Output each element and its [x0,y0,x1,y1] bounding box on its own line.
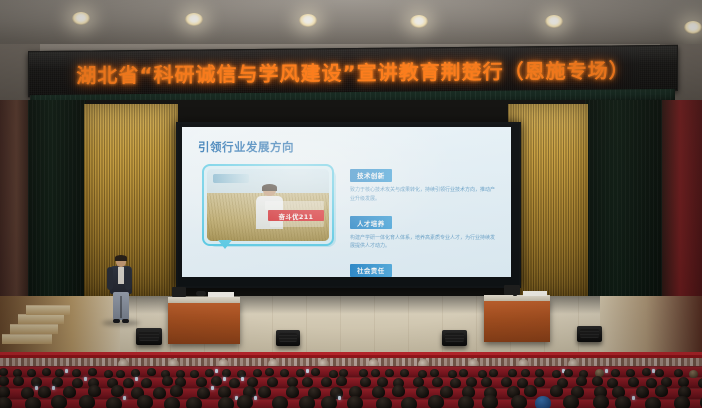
audience-phone-screen [123,396,126,400]
audience-member [237,395,253,408]
podium-right-papers [523,291,547,296]
slide-block: 社会责任 主动担当社会责任，服务乡村振兴与区域经济，助力科技成果惠及大众。 [350,260,498,277]
audience-member [25,397,41,408]
audience-member [655,369,664,377]
slide-block-badge: 人才培养 [350,216,392,229]
audience-member [218,397,234,408]
audience-member [564,369,573,377]
audience-member [272,396,288,408]
audience-member [636,386,649,398]
audience-member [13,376,24,386]
audience-member [147,368,156,376]
podium-left [168,300,240,344]
audience-member [321,396,337,408]
audience-member [646,378,657,388]
floor-monitor-speaker [276,330,300,346]
photo-red-badge-text: 奋斗优211 [268,210,324,221]
podium-right [484,298,550,342]
audience-member [626,369,635,377]
audience-member [336,376,347,386]
audience-member [642,368,651,376]
audience-member [116,370,125,378]
ceiling-shading [0,0,702,48]
audience-member [552,370,561,378]
presenter-arm-left [107,267,113,289]
audience-member [311,368,320,376]
audience-member [104,370,113,378]
audience-member [296,369,305,377]
presenter-leg-gap [120,296,121,318]
audience-member [0,376,9,386]
audience-member [280,369,289,377]
presenter-shoe-left [113,319,120,323]
floor-monitor-speaker [136,328,162,345]
ceiling-light-icon [185,13,203,26]
floor-monitor-speaker [442,330,467,346]
audience-member [416,386,429,398]
audience-member [563,395,579,408]
projection-screen[interactable]: 引领行业发展方向 奋斗优211 技术创新 [182,127,511,277]
podium-left-papers [208,292,234,297]
audience-member [88,368,97,376]
audience-member [190,370,199,378]
slide-title: 引领行业发展方向 [198,139,294,155]
stage-step [10,324,58,334]
audience-member [196,377,207,387]
stage-step [2,334,52,344]
presenter-shoe-right [122,319,129,323]
audience-member [535,369,544,377]
audience-member [698,378,702,388]
slide-block: 人才培养 构建产学研一体化育人体系，培养高素质专业人才，为行业持续发展提供人才动… [350,213,498,252]
audience-member [371,369,380,377]
audience-phone-screen [306,369,309,373]
ceiling-light-icon [410,15,428,28]
slide-block-body: 构建产学研一体化育人体系，培养高素质专业人才，为行业持续发展提供人才动力。 [350,234,498,252]
audience-member [615,396,631,408]
podium-left-top [168,297,240,303]
audience-phone-screen [338,396,341,400]
audience-member [459,369,468,377]
audience-area [0,366,702,408]
audience-member [482,395,498,408]
masking-drape-left [28,100,86,305]
audience-member [508,369,517,377]
audience-member [392,385,405,397]
audience-member [162,376,173,386]
audience-phone-screen [65,369,68,373]
podium-right-mic [513,289,517,296]
audience-member [428,395,444,408]
audience-member [359,369,368,377]
audience-member [286,386,299,398]
podium-right-equipment [504,285,520,295]
photo-logo [213,174,249,183]
audience-member [321,377,332,387]
audience-member [689,370,698,378]
slide-text-blocks: 技术创新 致力于核心技术攻关与成果转化，持续引领行业技术方向，推动产业升级发展。… [350,165,498,277]
audience-member [258,386,271,398]
ceiling-light-icon [72,12,90,25]
audience-member [592,376,603,386]
audience-member [440,386,453,398]
audience-member [186,397,202,408]
led-banner-screen: 湖北省“科研诚信与学风建设”宣讲教育荆楚行（恩施专场） [29,46,677,96]
audience-member [153,387,166,399]
floor-side-right [600,296,702,358]
audience-member [222,369,231,377]
monitor-grill [445,333,464,342]
presenter-arm-right [125,267,131,289]
audience-member [197,387,210,399]
audience-member [42,368,51,376]
stage-step [18,314,64,324]
photo-red-badge: 奋斗优211 [268,210,324,221]
audience-member [611,369,620,377]
audience-member [360,377,371,387]
monitor-grill [139,331,159,341]
audience-member [628,377,639,387]
audience-member [79,395,95,408]
audience-member [38,386,51,398]
audience-member [535,396,551,408]
audience-member [489,369,498,377]
audience-member [376,397,392,408]
presenter-shirt [118,267,124,284]
auditorium-scene: 湖北省“科研诚信与学风建设”宣讲教育荆楚行（恩施专场） 引领行业发展方向 [0,0,702,408]
audience-member [448,370,457,378]
audience-member [534,377,545,387]
audience-phone-screen [241,377,244,381]
slide-block-badge: 社会责任 [350,264,392,277]
audience-member [51,395,67,408]
audience-phone-screen [84,377,87,381]
audience-member [524,385,537,397]
presenter-hair [115,255,127,260]
audience-member [137,395,153,408]
audience-member [302,377,313,387]
audience-member [400,369,409,377]
audience-member [123,378,134,388]
ceiling-light-icon [299,14,317,27]
audience-member [576,376,587,386]
audience-member [450,378,461,388]
apron-trim [0,352,702,355]
photo-caption-line [265,201,324,210]
photo-person-hair [262,184,277,191]
audience-phone-screen [632,396,635,400]
audience-phone-screen [215,369,218,373]
stage-step [26,305,70,315]
podium-left-mic [196,291,206,296]
audience-phone-screen [135,377,138,381]
audience-phone-screen [223,377,226,381]
presenter [108,256,134,322]
audience-member [550,385,563,397]
audience-member [593,395,609,408]
audience-member [645,397,661,408]
audience-member [27,369,36,377]
photo-subcaption-line [270,221,324,227]
audience-member [131,369,140,377]
audience-member [141,378,152,388]
audience-member [385,369,394,377]
audience-member [299,396,315,408]
audience-member [111,385,124,397]
slide-block: 技术创新 致力于核心技术攻关与成果转化，持续引领行业技术方向，推动产业升级发展。 [350,165,498,204]
audience-member [265,368,274,376]
audience-member [521,369,530,377]
audience-member [106,397,122,408]
audience-member [430,369,439,377]
audience-member [674,396,690,408]
audience-member [432,377,443,387]
audience-member [458,396,474,408]
audience-member [674,369,683,377]
audience-member [481,377,492,387]
photo-thumbnail: 奋斗优211 [207,169,329,241]
side-wall-left [0,100,30,305]
floor-monitor-speaker [577,326,602,342]
speech-bubble-tail [218,240,232,249]
audience-member [253,369,262,377]
monitor-grill [580,329,599,338]
audience-member [0,386,10,398]
ceiling-light-icon [684,21,702,34]
podium-left-equipment [172,287,186,297]
slide-block-badge: 技术创新 [350,169,392,182]
audience-member [72,369,81,377]
side-wall-right [662,100,702,305]
slide-block-body: 致力于核心技术攻关与成果转化，持续引领行业技术方向，推动产业升级发展。 [350,186,498,204]
audience-member [347,396,363,408]
audience-member [267,377,278,387]
monitor-grill [279,333,297,342]
audience-member [229,378,240,388]
audience-member [170,385,183,397]
audience-member [511,395,527,408]
audience-member [401,397,417,408]
masking-drape-right [585,100,663,305]
stage-steps-left [0,300,96,358]
audience-phone-screen [605,369,608,373]
speech-bubble-card: 奋斗优211 [202,164,334,246]
ceiling-light-icon [545,15,563,28]
